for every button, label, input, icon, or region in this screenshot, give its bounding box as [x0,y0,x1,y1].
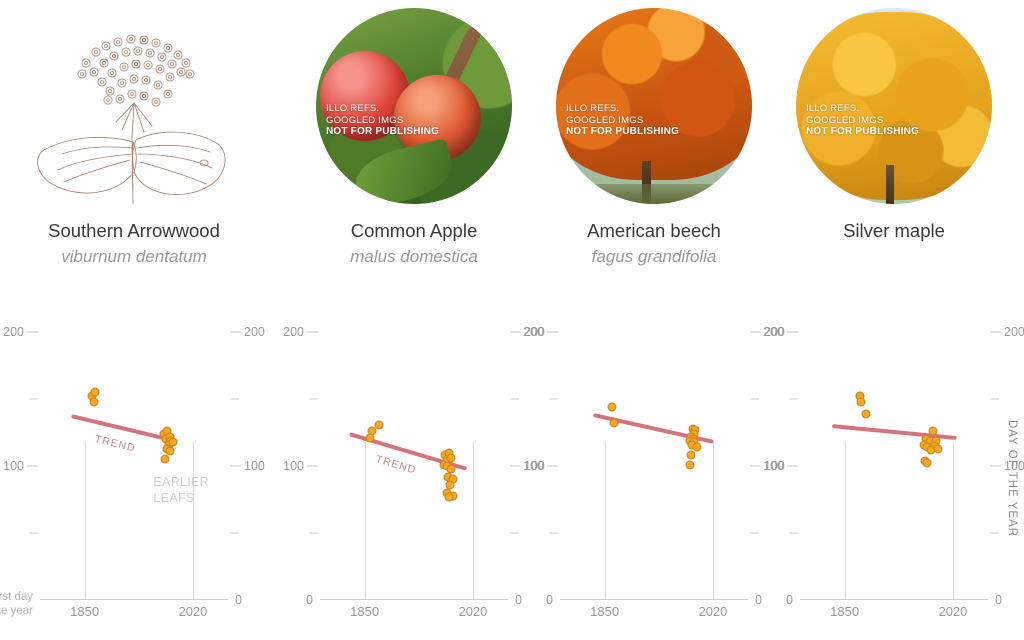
x-axis-tick-label: 1850 [590,604,619,619]
y-tick-mark [309,399,318,400]
species-scientific-name: malus domestica [294,244,534,269]
y-tick-mark [547,466,558,467]
first-day-line-2: of the year [0,604,33,618]
trend-label: TREND [93,433,136,454]
x-axis-tick-label: 2020 [178,604,207,619]
species-panel: ILLO REFS. GOOGLED IMGS NOT FOR PUBLISHI… [774,0,1014,640]
y-tick-mark [27,332,38,333]
x-axis-baseline [40,599,228,600]
x-axis-tick-label: 2020 [938,604,967,619]
species-names: Common Applemalus domestica [294,218,534,269]
scatter-chart: 100100200200first day of the year0185020… [14,300,254,610]
x-axis-tick-label: 1850 [70,604,99,619]
y-tick-mark [29,399,38,400]
y-tick-mark [307,466,318,467]
x-gridline [85,442,86,600]
watermark-line-1: ILLO REFS. [806,103,919,115]
y-axis-zero-label-right: 0 [235,593,242,607]
x-axis-tick-label: 2020 [698,604,727,619]
y-tick-mark [990,332,1001,333]
y-tick-mark [510,399,519,400]
data-point[interactable] [857,397,866,406]
watermark-line-2: GOOGLED IMGS [806,115,919,127]
data-point[interactable] [160,455,169,464]
x-axis-tick-label: 1850 [830,604,859,619]
data-point[interactable] [609,419,618,428]
data-point[interactable] [922,459,931,468]
data-point[interactable] [862,409,871,418]
data-point[interactable] [89,397,98,406]
beech-tree-photo: ILLO REFS. GOOGLED IMGS NOT FOR PUBLISHI… [556,8,752,204]
watermark-line-2: GOOGLED IMGS [326,115,439,127]
y-axis-tick-label: 100 [283,459,304,473]
species-names: Southern Arrowwoodviburnum dentatum [14,218,254,269]
watermark-line-3: NOT FOR PUBLISHING [806,126,919,138]
x-gridline [605,442,606,600]
first-day-line-1: first day [0,590,33,604]
y-tick-mark [789,533,798,534]
species-scientific-name: viburnum dentatum [14,244,254,269]
infographic-root: Southern Arrowwoodviburnum dentatum10010… [0,0,1024,640]
data-point[interactable] [444,492,453,501]
botanical-drawing [36,8,232,204]
x-gridline [365,442,366,600]
viburnum-line-drawing [36,8,232,204]
plot-area: 1001002002000018502020 [560,312,748,600]
species-scientific-name: fagus grandifolia [534,244,774,269]
data-point[interactable] [90,388,99,397]
y-axis-zero-label-left: 0 [786,593,793,607]
x-axis-baseline [320,599,508,600]
y-axis-tick-label: 100 [763,459,784,473]
watermark-line-1: ILLO REFS. [566,103,679,115]
y-axis-tick-label: 200 [1004,325,1024,339]
y-tick-mark [990,399,999,400]
y-tick-mark [510,533,519,534]
x-gridline [713,442,714,600]
species-names: American beechfagus grandifolia [534,218,774,269]
y-tick-mark [750,399,759,400]
watermark-line-2: GOOGLED IMGS [566,115,679,127]
x-axis-tick-label: 2020 [458,604,487,619]
plot-area: 1001002002000018502020TREND [320,312,508,600]
y-axis-tick-label: 200 [3,325,24,339]
scatter-chart: 1001002002000018502020TREND [294,300,534,610]
species-common-name: Southern Arrowwood [14,218,254,244]
data-point[interactable] [687,451,696,460]
apple-photo: ILLO REFS. GOOGLED IMGS NOT FOR PUBLISHI… [316,8,512,204]
data-point[interactable] [374,420,383,429]
x-axis-tick-label: 1850 [350,604,379,619]
species-panel: ILLO REFS. GOOGLED IMGS NOT FOR PUBLISHI… [534,0,774,640]
x-axis-baseline [560,599,748,600]
watermark: ILLO REFS. GOOGLED IMGS NOT FOR PUBLISHI… [806,103,919,138]
y-tick-mark [307,332,318,333]
data-point[interactable] [693,443,702,452]
y-axis-tick-label: 100 [244,459,265,473]
y-tick-mark [510,466,521,467]
x-gridline [845,442,846,600]
y-tick-mark [230,533,239,534]
species-panel: ILLO REFS. GOOGLED IMGS NOT FOR PUBLISHI… [294,0,534,640]
y-tick-mark [549,533,558,534]
y-axis-zero-label-left: 0 [546,593,553,607]
y-tick-mark [750,533,759,534]
y-tick-mark [547,332,558,333]
y-axis-zero-label-right: 0 [755,593,762,607]
y-tick-mark [750,466,761,467]
y-axis-zero-label-right: 0 [515,593,522,607]
y-axis-tick-label: 200 [763,325,784,339]
y-tick-mark [27,466,38,467]
data-point[interactable] [928,427,937,436]
y-tick-mark [230,399,239,400]
y-axis-tick-label: 100 [3,459,24,473]
y-tick-mark [787,332,798,333]
earlier-leafs-line-1: EARLIER [153,474,209,490]
y-axis-zero-label-right: 0 [995,593,1002,607]
data-point[interactable] [686,460,695,469]
first-day-label: first day of the year [0,590,33,618]
watermark-line-3: NOT FOR PUBLISHING [566,126,679,138]
watermark: ILLO REFS. GOOGLED IMGS NOT FOR PUBLISHI… [566,103,679,138]
data-point[interactable] [365,433,374,442]
earlier-leafs-line-2: LEAFS [153,490,209,506]
y-tick-mark [29,533,38,534]
y-axis-tick-label: 200 [523,325,544,339]
watermark: ILLO REFS. GOOGLED IMGS NOT FOR PUBLISHI… [326,103,439,138]
trend-label: TREND [375,453,418,476]
y-tick-mark [230,466,241,467]
y-tick-mark [750,332,761,333]
x-axis-baseline [800,599,988,600]
y-axis-title: DAY OF THE YEAR [1006,420,1018,537]
y-axis-tick-label: 200 [244,325,265,339]
species-panel: Southern Arrowwoodviburnum dentatum10010… [14,0,254,640]
species-common-name: Silver maple [774,218,1014,244]
species-common-name: American beech [534,218,774,244]
y-axis-tick-label: 100 [523,459,544,473]
y-axis-zero-label-left: 0 [306,593,313,607]
plot-area: 1001002002000018502020 [800,312,988,600]
scatter-chart: 1001002002000018502020 [774,300,1014,610]
data-point[interactable] [608,403,617,412]
earlier-leafs-annotation: EARLIER LEAFS [153,474,209,506]
y-tick-mark [990,533,999,534]
y-tick-mark [787,466,798,467]
y-tick-mark [549,399,558,400]
scatter-chart: 1001002002000018502020 [534,300,774,610]
y-tick-mark [789,399,798,400]
x-gridline [193,442,194,600]
watermark-line-3: NOT FOR PUBLISHING [326,126,439,138]
x-gridline [473,442,474,600]
x-gridline [953,442,954,600]
y-tick-mark [510,332,521,333]
y-tick-mark [990,466,1001,467]
y-axis-tick-label: 200 [283,325,304,339]
plot-area: 100100200200first day of the year0185020… [40,312,228,600]
y-tick-mark [309,533,318,534]
maple-tree-photo: ILLO REFS. GOOGLED IMGS NOT FOR PUBLISHI… [796,8,992,204]
y-tick-mark [230,332,241,333]
species-names: Silver maple [774,218,1014,244]
data-point[interactable] [933,444,942,453]
watermark-line-1: ILLO REFS. [326,103,439,115]
species-common-name: Common Apple [294,218,534,244]
